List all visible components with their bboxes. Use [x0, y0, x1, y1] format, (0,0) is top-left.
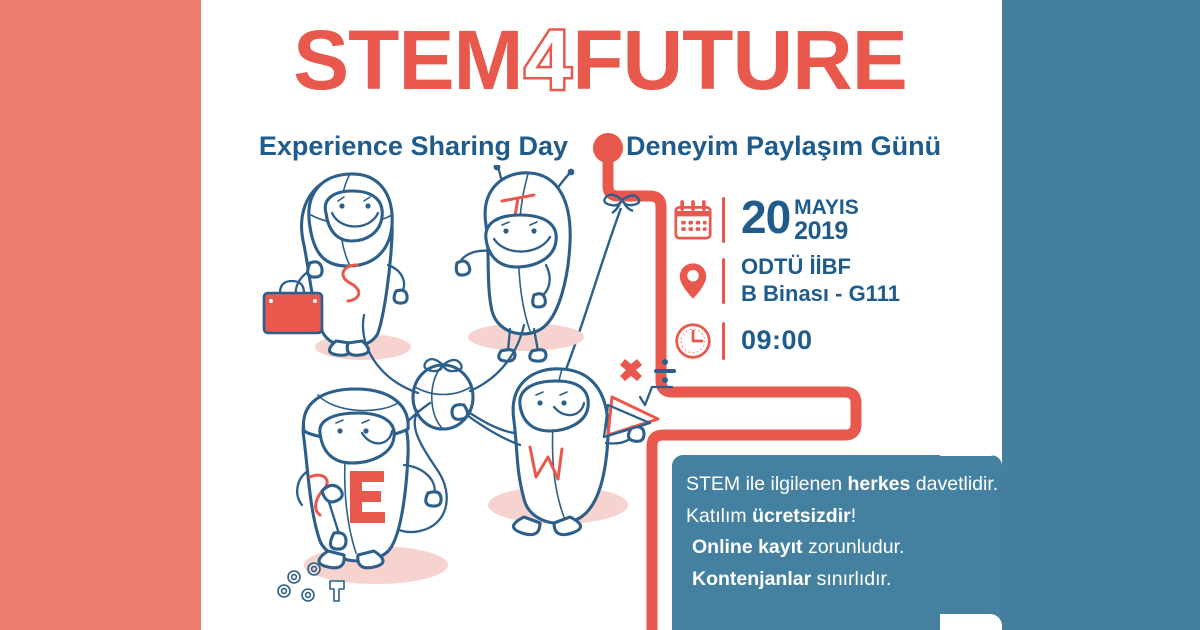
title-part-stem: STEM [293, 18, 522, 102]
title-part-future: FUTURE [572, 18, 907, 102]
date-month: MAYIS [794, 196, 859, 219]
event-details-list: 20 MAYIS 2019 ODTÜ İİBF B Binası - G111 [672, 196, 1002, 374]
note-line-3: Online kayıt zorunludur. [686, 532, 1002, 564]
subtitle-turkish: Deneyim Paylaşım Günü [626, 130, 941, 162]
subtitle-english: Experience Sharing Day [259, 130, 568, 162]
calendar-icon [672, 197, 714, 243]
note-line-4: Kontenjanlar sınırlıdır. [686, 564, 1002, 596]
date-year: 2019 [794, 217, 848, 245]
place-line-2: B Binası - G111 [741, 281, 900, 306]
letter-e [350, 471, 385, 523]
date-day: 20 [741, 196, 790, 240]
notes-box-top-notch [940, 440, 1002, 456]
stem-mascots-illustration: .ln { fill:#ffffff; stroke:#2c5f8a; stro… [258, 165, 678, 630]
science-blob-character [264, 174, 407, 355]
notes-box-bottom-notch [940, 614, 1002, 630]
clock-icon [672, 318, 714, 364]
event-place-row: ODTÜ İİBF B Binası - G111 [672, 254, 1002, 308]
date-divider [722, 197, 725, 243]
math-blob-character [452, 359, 676, 535]
poster-subtitle: Experience Sharing DayDeneyim Paylaşım G… [0, 130, 1200, 162]
title-numeral-four: 4 [524, 18, 570, 102]
time-divider [722, 322, 725, 360]
event-time-row: 09:00 [672, 318, 1002, 364]
note-line-2: Katılım ücretsizdir! [686, 501, 1002, 533]
poster-title: STEM4FUTURE [0, 18, 1200, 102]
place-line-1: ODTÜ İİBF [741, 254, 851, 279]
briefcase-body [264, 293, 322, 333]
place-divider [722, 258, 725, 304]
math-symbols [620, 359, 676, 405]
date-value: 20 MAYIS 2019 [741, 196, 859, 244]
note-line-1: STEM ile ilgilenen herkes davetlidir. [686, 469, 1002, 501]
event-date-row: 20 MAYIS 2019 [672, 196, 1002, 244]
sqrt-symbol [640, 387, 672, 405]
time-value: 09:00 [741, 325, 813, 356]
notes-box: STEM ile ilgilenen herkes davetlidir. Ka… [672, 455, 1002, 630]
location-pin-icon [672, 258, 714, 304]
poster-canvas: STEM4FUTURE Experience Sharing DayDeneyi… [0, 0, 1200, 630]
place-value: ODTÜ İİBF B Binası - G111 [741, 254, 900, 308]
multiply-symbol [620, 359, 642, 381]
